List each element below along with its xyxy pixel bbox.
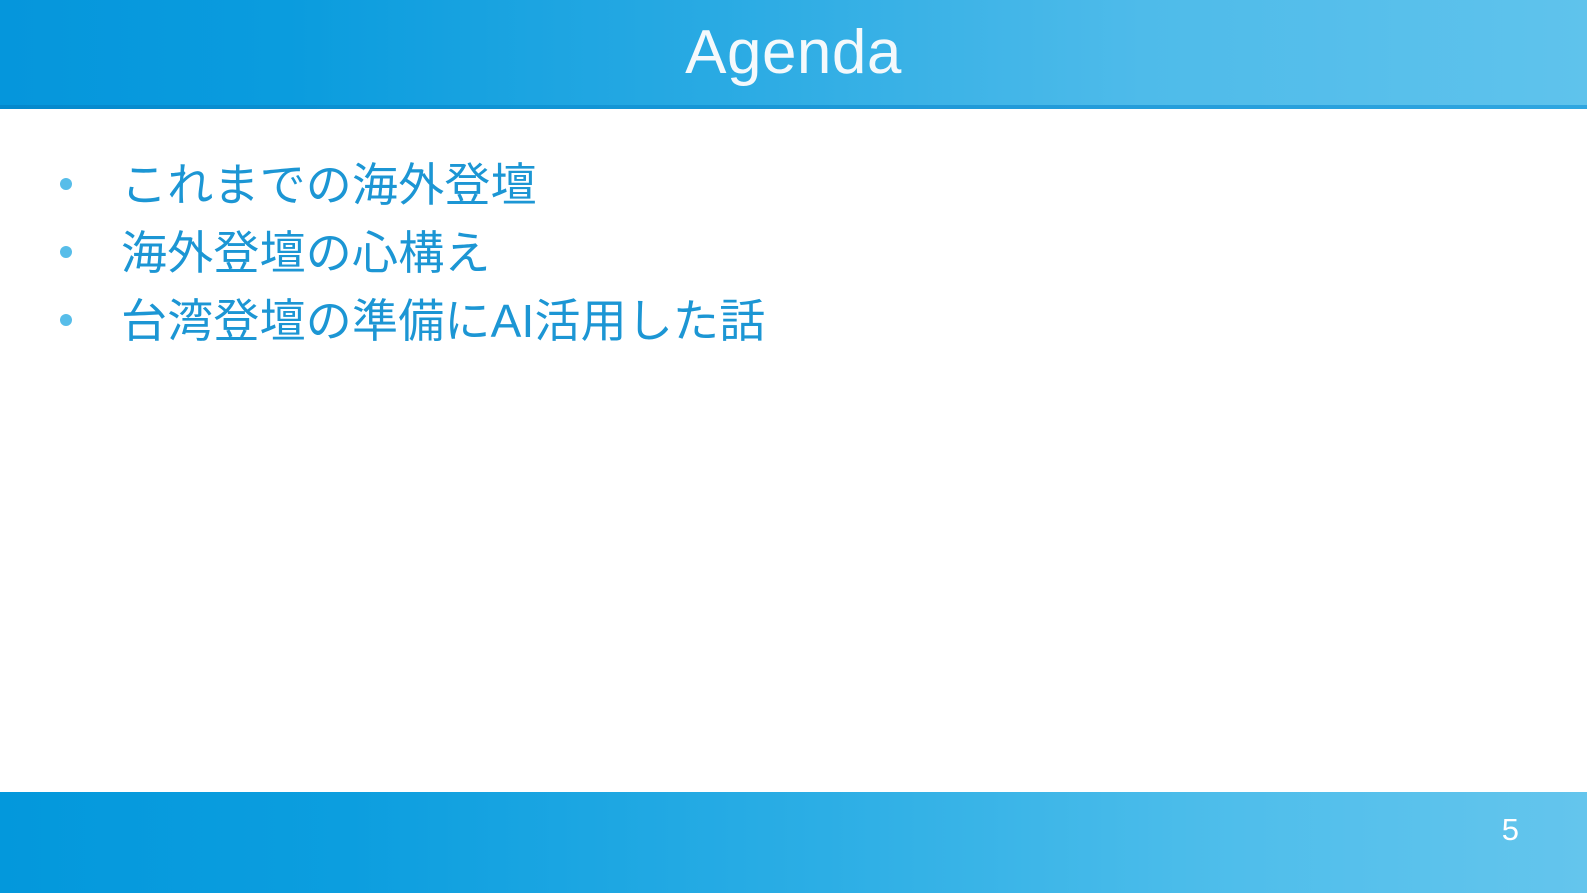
bullet-item-label: 台湾登壇の準備にAI活用した話 [121,288,765,354]
agenda-bullet-list: これまでの海外登壇 海外登壇の心構え 台湾登壇の準備にAI活用した話 [60,152,1520,356]
page-number: 5 [1502,810,1519,850]
bullet-dot-icon [60,314,72,326]
slide-title: Agenda [0,0,1587,105]
slide-header-band: Agenda [0,0,1587,109]
bullet-dot-icon [60,178,72,190]
bullet-item-label: これまでの海外登壇 [121,152,537,218]
slide-body: これまでの海外登壇 海外登壇の心構え 台湾登壇の準備にAI活用した話 [0,112,1587,792]
bullet-item-label: 海外登壇の心構え [121,220,491,286]
bullet-dot-icon [60,246,72,258]
list-item: これまでの海外登壇 [60,152,1520,220]
presentation-slide: Agenda これまでの海外登壇 海外登壇の心構え 台湾登壇の準備にAI活用した… [0,0,1587,893]
list-item: 海外登壇の心構え [60,220,1520,288]
list-item: 台湾登壇の準備にAI活用した話 [60,288,1520,356]
slide-footer-band: 5 [0,792,1587,893]
